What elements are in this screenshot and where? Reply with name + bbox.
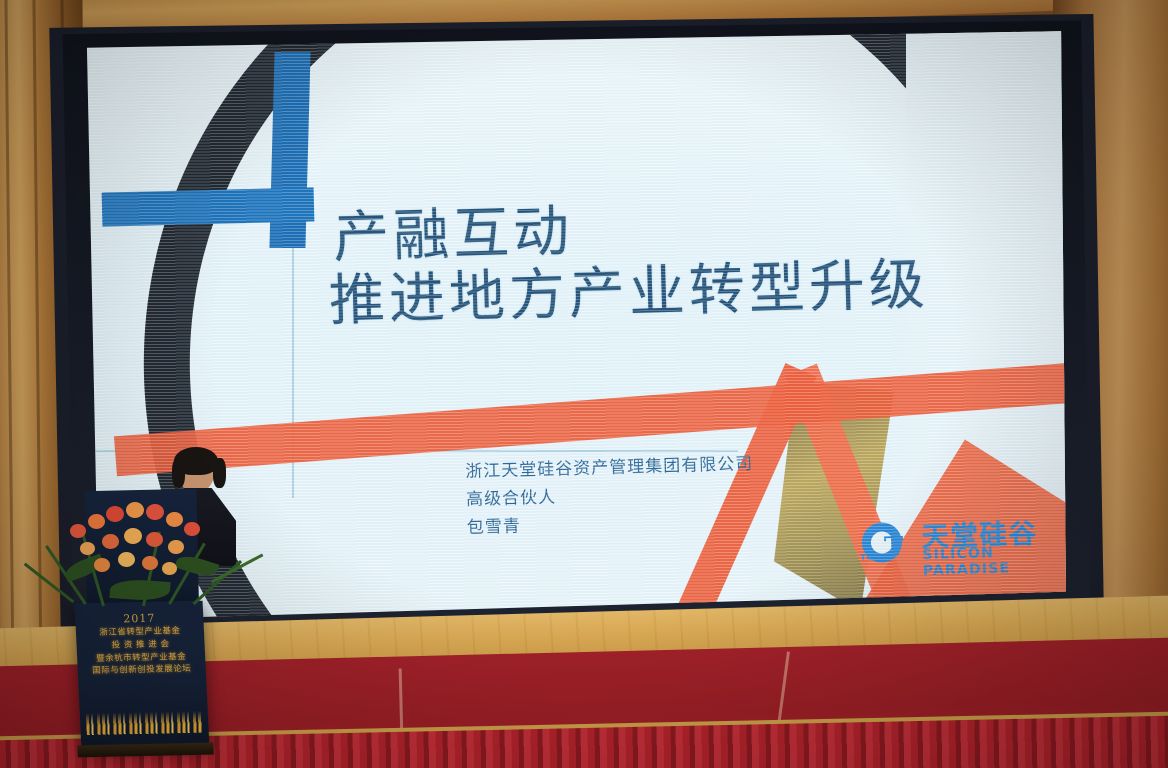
flower <box>102 534 119 549</box>
podium-line-4: 国际与创新创投发展论坛 <box>82 663 203 678</box>
flower <box>118 552 135 567</box>
column-flute <box>32 0 43 700</box>
logo-circle-icon: T TGO <box>861 522 912 570</box>
flower <box>146 532 163 547</box>
flower <box>88 514 105 529</box>
flower <box>126 502 144 518</box>
flower <box>142 556 158 570</box>
flower <box>184 522 200 536</box>
flower <box>124 528 142 544</box>
podium-skyline-graphic <box>86 711 203 735</box>
company-logo: T TGO 天堂硅谷 SILICON PARADISE <box>851 509 1066 580</box>
logo-tgo-text: TGO <box>860 553 881 563</box>
speaker-hair-side <box>213 458 226 488</box>
flower-arrangement <box>58 494 228 614</box>
flower <box>162 562 177 575</box>
flower <box>146 504 164 520</box>
speaker-hair-side <box>172 458 185 488</box>
flower <box>168 540 184 554</box>
foliage <box>109 578 170 602</box>
flower <box>70 524 86 538</box>
logo-name-en: SILICON PARADISE <box>922 543 1066 580</box>
flower <box>94 558 110 572</box>
column-flute <box>4 0 15 700</box>
podium-text: 浙江省转型产业基金 投 资 推 进 会 暨余杭市转型产业基金 国际与创新创投发展… <box>80 625 202 678</box>
logo-letter: T <box>884 534 904 561</box>
flower <box>80 542 95 555</box>
slide-subtitle: 浙江天堂硅谷资产管理集团有限公司 高级合伙人 包雪青 <box>465 446 897 542</box>
flower <box>166 512 183 527</box>
flower <box>106 506 124 522</box>
podium-sign: 2017 浙江省转型产业基金 投 资 推 进 会 暨余杭市转型产业基金 国际与创… <box>75 601 210 750</box>
photo-scene: 产融互动 推进地方产业转型升级 浙江天堂硅谷资产管理集团有限公司 高级合伙人 包… <box>0 0 1168 768</box>
slide-title: 产融互动 推进地方产业转型升级 <box>332 188 1035 333</box>
blue-bracket-horizontal <box>102 187 315 226</box>
